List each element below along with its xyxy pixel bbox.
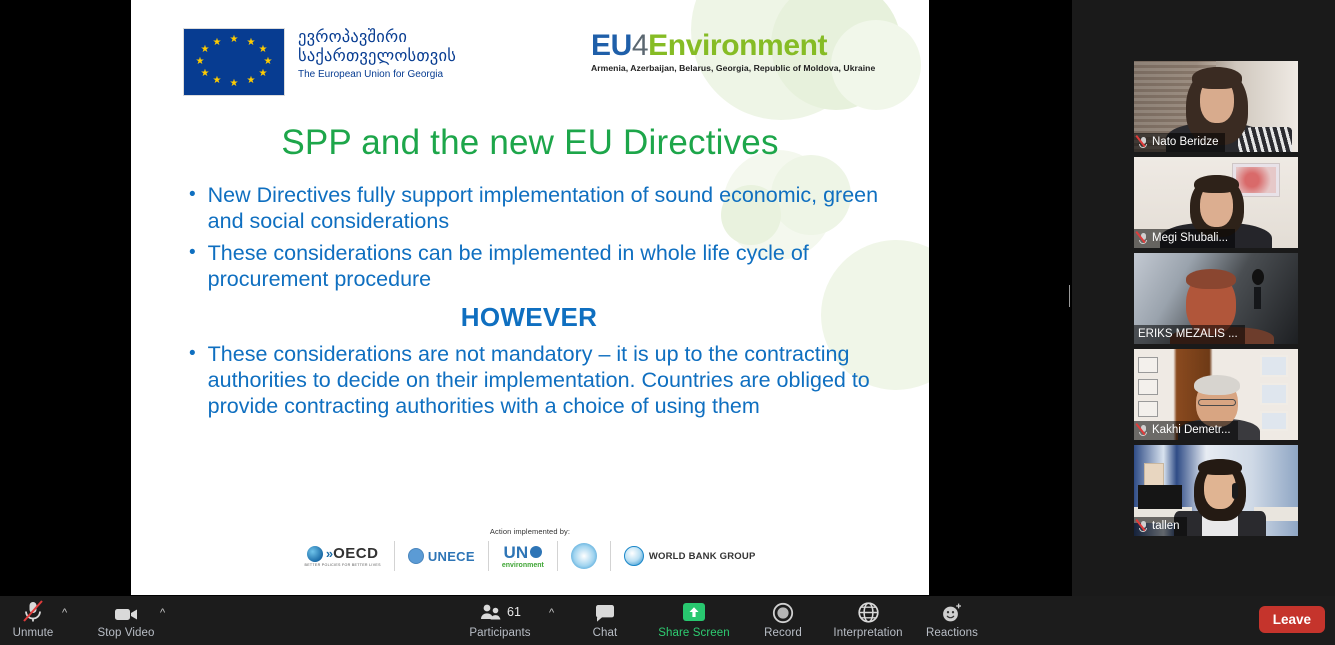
video-options-caret-icon[interactable]: ^ xyxy=(160,607,165,619)
action-implemented-by-label: Action implemented by: xyxy=(131,527,929,536)
microphone-muted-icon xyxy=(1138,424,1148,437)
zoom-meeting-window: ★ ★ ★ ★ ★ ★ ★ ★ ★ ★ ★ ★ ევროპავშირ xyxy=(0,0,1335,645)
slide-body: • New Directives fully support implement… xyxy=(189,182,889,425)
bullet-marker: • xyxy=(189,240,196,292)
reactions-button[interactable]: Reactions xyxy=(920,600,984,639)
un-name: UN xyxy=(504,544,529,561)
dark-object xyxy=(1254,287,1261,309)
participant-filmstrip: Nato Beridze Megi Shubali... xyxy=(1072,0,1335,596)
share-screen-label: Share Screen xyxy=(658,627,730,639)
video-tile-kakhi-demetr[interactable]: Kakhi Demetr... xyxy=(1134,349,1298,440)
shared-screen-stage: ★ ★ ★ ★ ★ ★ ★ ★ ★ ★ ★ ★ ევროპავშირ xyxy=(0,0,1071,596)
unmute-label: Unmute xyxy=(13,627,54,639)
brand-eu: EU xyxy=(591,29,632,62)
leave-button[interactable]: Leave xyxy=(1259,606,1325,633)
unido-globe-icon xyxy=(571,543,597,569)
participants-count: 61 xyxy=(507,605,521,619)
bullet-text: These considerations can be implemented … xyxy=(208,240,889,292)
oecd-logo: » OECD BETTER POLICIES FOR BETTER LIVES xyxy=(292,539,394,573)
share-screen-button[interactable]: Share Screen xyxy=(645,600,743,639)
participants-caret-icon[interactable]: ^ xyxy=(549,607,554,619)
chat-label: Chat xyxy=(593,627,618,639)
eu4environment-logo: EU4Environment Armenia, Azerbaijan, Bela… xyxy=(591,30,875,73)
person-shoulder xyxy=(1238,127,1292,152)
meeting-toolbar: Unmute ^ Stop Video ^ 6 xyxy=(0,596,1335,645)
stop-video-label: Stop Video xyxy=(97,627,154,639)
participant-name: Nato Beridze xyxy=(1152,135,1218,150)
eu-logo-line2: საქართველოსთვის xyxy=(298,47,456,66)
bullet-item: • These considerations can be implemente… xyxy=(189,240,889,292)
slide-title: SPP and the new EU Directives xyxy=(131,122,929,164)
unece-name: UNECE xyxy=(428,549,475,564)
chat-button[interactable]: Chat xyxy=(578,600,632,639)
eyeglasses-icon xyxy=(1198,399,1236,406)
chat-bubble-icon xyxy=(594,604,616,624)
microphone-muted-icon xyxy=(1138,232,1148,245)
however-heading: HOWEVER xyxy=(189,302,889,333)
video-camera-icon xyxy=(112,604,140,624)
un-badge-icon xyxy=(530,546,542,558)
oecd-name: OECD xyxy=(333,545,378,562)
person-hair-front xyxy=(1194,175,1239,193)
world-bank-name: WORLD BANK GROUP xyxy=(649,551,756,562)
world-bank-globe-icon xyxy=(624,546,644,566)
person-hair-front xyxy=(1198,459,1242,475)
brand-four: 4 xyxy=(632,29,648,62)
wall-picture xyxy=(1138,401,1158,417)
wall-picture xyxy=(1260,383,1288,405)
person-jacket xyxy=(1238,511,1266,536)
headset-icon xyxy=(1232,483,1238,499)
bullet-text: New Directives fully support implementat… xyxy=(208,182,889,234)
participant-name: tallen xyxy=(1152,519,1180,534)
video-tile-tallen[interactable]: tallen xyxy=(1134,445,1298,536)
record-button[interactable]: Record xyxy=(753,600,813,639)
person-hair xyxy=(1194,375,1240,395)
tile-namebar: Kakhi Demetr... xyxy=(1134,421,1238,440)
brand-countries: Armenia, Azerbaijan, Belarus, Georgia, R… xyxy=(591,63,875,73)
tile-namebar: tallen xyxy=(1134,517,1187,536)
microphone-muted-icon xyxy=(1138,136,1148,149)
eu-logo-line1: ევროპავშირი xyxy=(298,28,456,47)
interpretation-button[interactable]: Interpretation xyxy=(820,600,916,639)
bullet-text: These considerations are not mandatory –… xyxy=(208,341,889,419)
bullet-marker: • xyxy=(189,341,196,419)
oecd-chevron-icon: » xyxy=(326,546,330,561)
brand-environment: Environment xyxy=(648,29,827,62)
world-bank-group-logo: WORLD BANK GROUP xyxy=(611,539,769,573)
dark-object xyxy=(1252,269,1264,285)
participant-name: Kakhi Demetr... xyxy=(1152,423,1231,438)
record-circle-icon xyxy=(772,602,794,624)
wall-picture xyxy=(1138,379,1158,395)
wall-picture xyxy=(1260,411,1288,431)
eu-logo-line-en: The European Union for Georgia xyxy=(298,68,456,81)
tile-namebar: ERIKS MEZALIS ... xyxy=(1134,325,1245,344)
participants-label: Participants xyxy=(469,627,530,639)
person-hair xyxy=(1186,269,1236,289)
un-environment-logo: UN environment xyxy=(489,539,557,573)
oecd-globe-icon xyxy=(307,546,323,562)
monitor xyxy=(1138,485,1182,509)
eu-logo: ★ ★ ★ ★ ★ ★ ★ ★ ★ ★ ★ ★ ევროპავშირ xyxy=(183,28,456,96)
interpretation-label: Interpretation xyxy=(833,627,902,639)
oecd-tagline: BETTER POLICIES FOR BETTER LIVES xyxy=(305,563,381,567)
video-tile-megi-shubali[interactable]: Megi Shubali... xyxy=(1134,157,1298,248)
person-hair-front xyxy=(1192,67,1242,89)
participants-button[interactable]: 61 Participants xyxy=(460,600,540,639)
share-screen-icon xyxy=(679,602,709,624)
reactions-label: Reactions xyxy=(926,627,978,639)
globe-icon xyxy=(857,601,880,624)
participants-icon xyxy=(479,603,503,621)
tile-namebar: Megi Shubali... xyxy=(1134,229,1235,248)
bullet-marker: • xyxy=(189,182,196,234)
un-globe-icon xyxy=(408,548,424,564)
participant-name: Megi Shubali... xyxy=(1152,231,1228,246)
shared-slide: ★ ★ ★ ★ ★ ★ ★ ★ ★ ★ ★ ★ ევროპავშირ xyxy=(131,0,929,595)
tile-namebar: Nato Beridze xyxy=(1134,133,1225,152)
microphone-muted-icon xyxy=(20,600,46,624)
stop-video-button[interactable]: Stop Video xyxy=(96,600,156,639)
smiley-plus-icon xyxy=(940,602,964,624)
microphone-muted-icon xyxy=(1138,520,1148,533)
participant-name: ERIKS MEZALIS ... xyxy=(1138,327,1238,342)
audio-options-caret-icon[interactable]: ^ xyxy=(62,607,67,619)
video-tile-nato-beridze[interactable]: Nato Beridze xyxy=(1134,61,1298,152)
slide-footer: Action implemented by: » OECD BETTER POL… xyxy=(131,527,929,573)
wall-picture xyxy=(1138,357,1158,373)
un-environment-sub: environment xyxy=(502,562,544,569)
unmute-button[interactable]: Unmute xyxy=(8,600,58,639)
eu-flag-icon: ★ ★ ★ ★ ★ ★ ★ ★ ★ ★ ★ ★ xyxy=(183,28,285,96)
video-tile-eriks-mezalis[interactable]: ERIKS MEZALIS ... xyxy=(1134,253,1298,344)
unece-logo: UNECE xyxy=(395,539,488,573)
record-label: Record xyxy=(764,627,802,639)
unido-logo xyxy=(558,539,610,573)
wall-picture xyxy=(1260,355,1288,377)
bullet-item: • New Directives fully support implement… xyxy=(189,182,889,234)
bullet-item: • These considerations are not mandatory… xyxy=(189,341,889,419)
